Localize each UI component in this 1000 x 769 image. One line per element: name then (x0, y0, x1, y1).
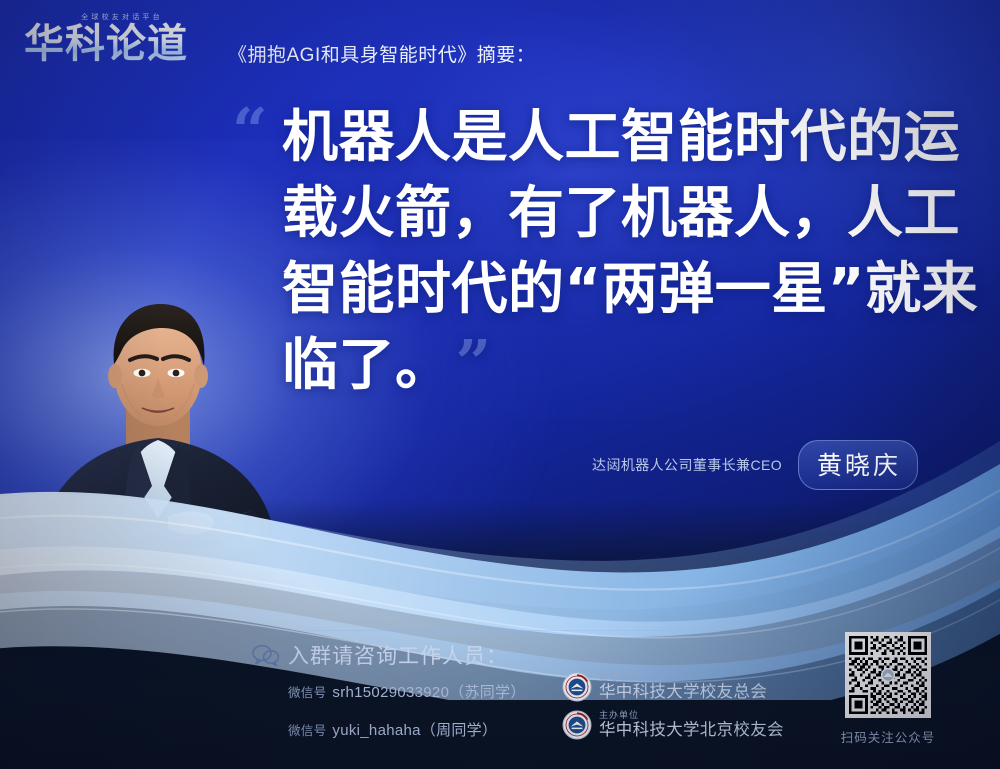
background-vignette (0, 0, 1000, 769)
poster-canvas: 全球校友对话平台 华科论道 《拥抱AGI和具身智能时代》摘要： “ 机器人是人工… (0, 0, 1000, 769)
